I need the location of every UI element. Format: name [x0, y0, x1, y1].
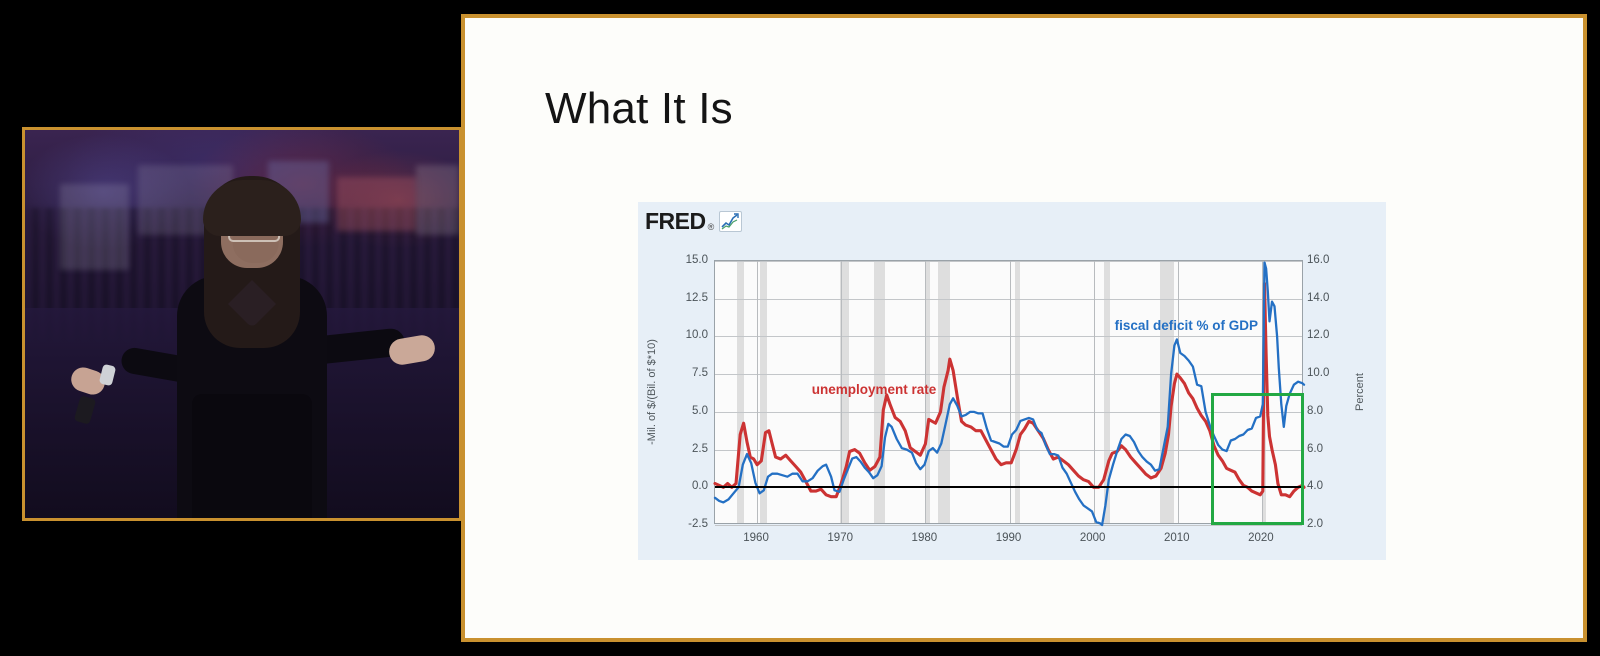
speaker-hair-front: [203, 180, 301, 236]
x-axis-tick-label: 1960: [743, 532, 769, 544]
x-axis-tick-label: 2010: [1164, 532, 1190, 544]
y-axis-left-tick-label: 7.5: [692, 367, 708, 379]
y-axis-right-tick-label: 14.0: [1307, 292, 1329, 304]
y-axis-left-tick-label: 10.0: [686, 329, 708, 341]
y-axis-right-tick-label: 12.0: [1307, 329, 1329, 341]
y-axis-right-tick-label: 10.0: [1307, 367, 1329, 379]
screen-root: What It Is FRED ® -Mil. of $/(Bil. of $*…: [0, 0, 1600, 656]
annotation-fiscal-deficit: fiscal deficit % of GDP: [1115, 318, 1258, 333]
y-axis-left-tick-label: -2.5: [688, 518, 708, 530]
y-axis-left-tick-label: 12.5: [686, 292, 708, 304]
y-axis-right-tick-label: 8.0: [1307, 405, 1323, 417]
y-axis-right-title: Percent: [1352, 260, 1368, 524]
y-axis-right-title-text: Percent: [1354, 373, 1366, 411]
presentation-slide: What It Is FRED ® -Mil. of $/(Bil. of $*…: [461, 14, 1587, 642]
y-axis-right-ticks: 16.014.012.010.08.06.04.02.0: [1307, 260, 1353, 524]
line-chart-icon: [719, 211, 742, 232]
gridline-horizontal: [715, 525, 1302, 526]
x-axis-tick-label: 2000: [1080, 532, 1106, 544]
fred-wordmark: FRED: [645, 208, 706, 235]
y-axis-right-tick-label: 16.0: [1307, 254, 1329, 266]
speaker-video-panel: [22, 127, 462, 521]
y-axis-left-tick-label: 2.5: [692, 443, 708, 455]
y-axis-right-tick-label: 2.0: [1307, 518, 1323, 530]
x-axis-tick-label: 1980: [912, 532, 938, 544]
x-axis-tick-label: 2020: [1248, 532, 1274, 544]
plot-area: unemployment rate fiscal deficit % of GD…: [714, 260, 1303, 524]
y-axis-right-tick-label: 6.0: [1307, 443, 1323, 455]
y-axis-left-ticks: 15.012.510.07.55.02.50.0-2.5: [638, 260, 708, 524]
y-axis-left-tick-label: 5.0: [692, 405, 708, 417]
video-inner: [25, 130, 459, 518]
page-title: What It Is: [545, 84, 733, 134]
fred-logo: FRED ®: [645, 208, 742, 235]
fred-chart-panel: FRED ® -Mil. of $/(Bil. of $*10) Percent: [638, 202, 1386, 560]
x-axis-tick-label: 1990: [996, 532, 1022, 544]
y-axis-left-tick-label: 15.0: [686, 254, 708, 266]
annotation-unemployment-rate: unemployment rate: [812, 382, 937, 397]
x-axis-tick-label: 1970: [827, 532, 853, 544]
y-axis-left-tick-label: 0.0: [692, 480, 708, 492]
fred-registered-mark: ®: [708, 222, 715, 232]
y-axis-right-tick-label: 4.0: [1307, 480, 1323, 492]
speaker-figure: [127, 169, 377, 518]
backdrop-block-1: [60, 184, 129, 269]
highlight-rectangle: [1211, 393, 1304, 525]
speaker-lower-body: [192, 394, 312, 518]
x-axis-ticks: 1960197019801990200020102020: [714, 528, 1303, 548]
backdrop-block-5: [416, 165, 459, 235]
